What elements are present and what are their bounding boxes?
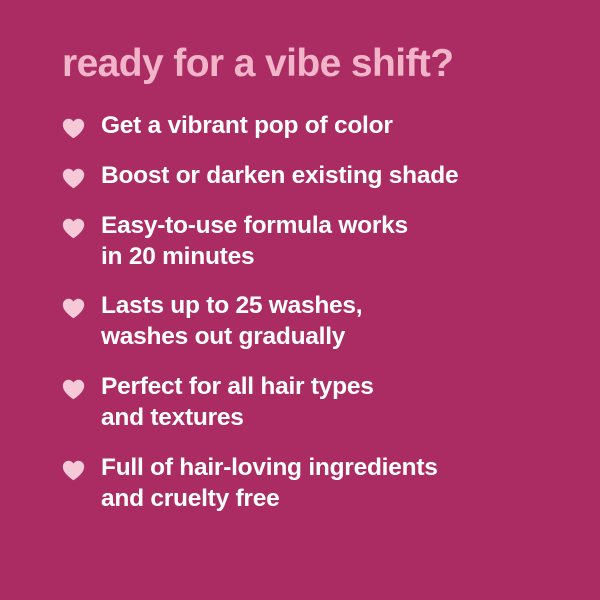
- heart-icon: [62, 460, 85, 481]
- list-item-line: Full of hair-loving ingredients: [101, 453, 438, 484]
- list-item-line: washes out gradually: [101, 322, 362, 353]
- list-item: Lasts up to 25 washes, washes out gradua…: [62, 291, 560, 353]
- list-item-label: Get a vibrant pop of color: [101, 111, 393, 142]
- list-item: Boost or darken existing shade: [62, 161, 560, 192]
- list-item: Get a vibrant pop of color: [62, 111, 560, 142]
- heart-icon: [62, 298, 85, 319]
- heart-icon: [62, 168, 85, 189]
- list-item-line: and textures: [101, 403, 374, 434]
- list-item: Perfect for all hair types and textures: [62, 372, 560, 434]
- list-item-label: Boost or darken existing shade: [101, 161, 458, 192]
- benefit-list: Get a vibrant pop of color Boost or dark…: [62, 111, 560, 515]
- list-item-line: in 20 minutes: [101, 242, 408, 273]
- list-item: Easy-to-use formula works in 20 minutes: [62, 211, 560, 273]
- list-item-line: Get a vibrant pop of color: [101, 111, 393, 142]
- list-item-label: Lasts up to 25 washes, washes out gradua…: [101, 291, 362, 353]
- product-benefits-card: ready for a vibe shift? Get a vibrant po…: [0, 0, 600, 600]
- list-item-line: Lasts up to 25 washes,: [101, 291, 362, 322]
- list-item-line: Easy-to-use formula works: [101, 211, 408, 242]
- list-item-label: Easy-to-use formula works in 20 minutes: [101, 211, 408, 273]
- list-item: Full of hair-loving ingredients and crue…: [62, 453, 560, 515]
- list-item-label: Full of hair-loving ingredients and crue…: [101, 453, 438, 515]
- list-item-line: Boost or darken existing shade: [101, 161, 458, 192]
- list-item-line: and cruelty free: [101, 484, 438, 515]
- heart-icon: [62, 218, 85, 239]
- list-item-label: Perfect for all hair types and textures: [101, 372, 374, 434]
- heart-icon: [62, 118, 85, 139]
- heart-icon: [62, 379, 85, 400]
- page-title: ready for a vibe shift?: [62, 44, 560, 85]
- list-item-line: Perfect for all hair types: [101, 372, 374, 403]
